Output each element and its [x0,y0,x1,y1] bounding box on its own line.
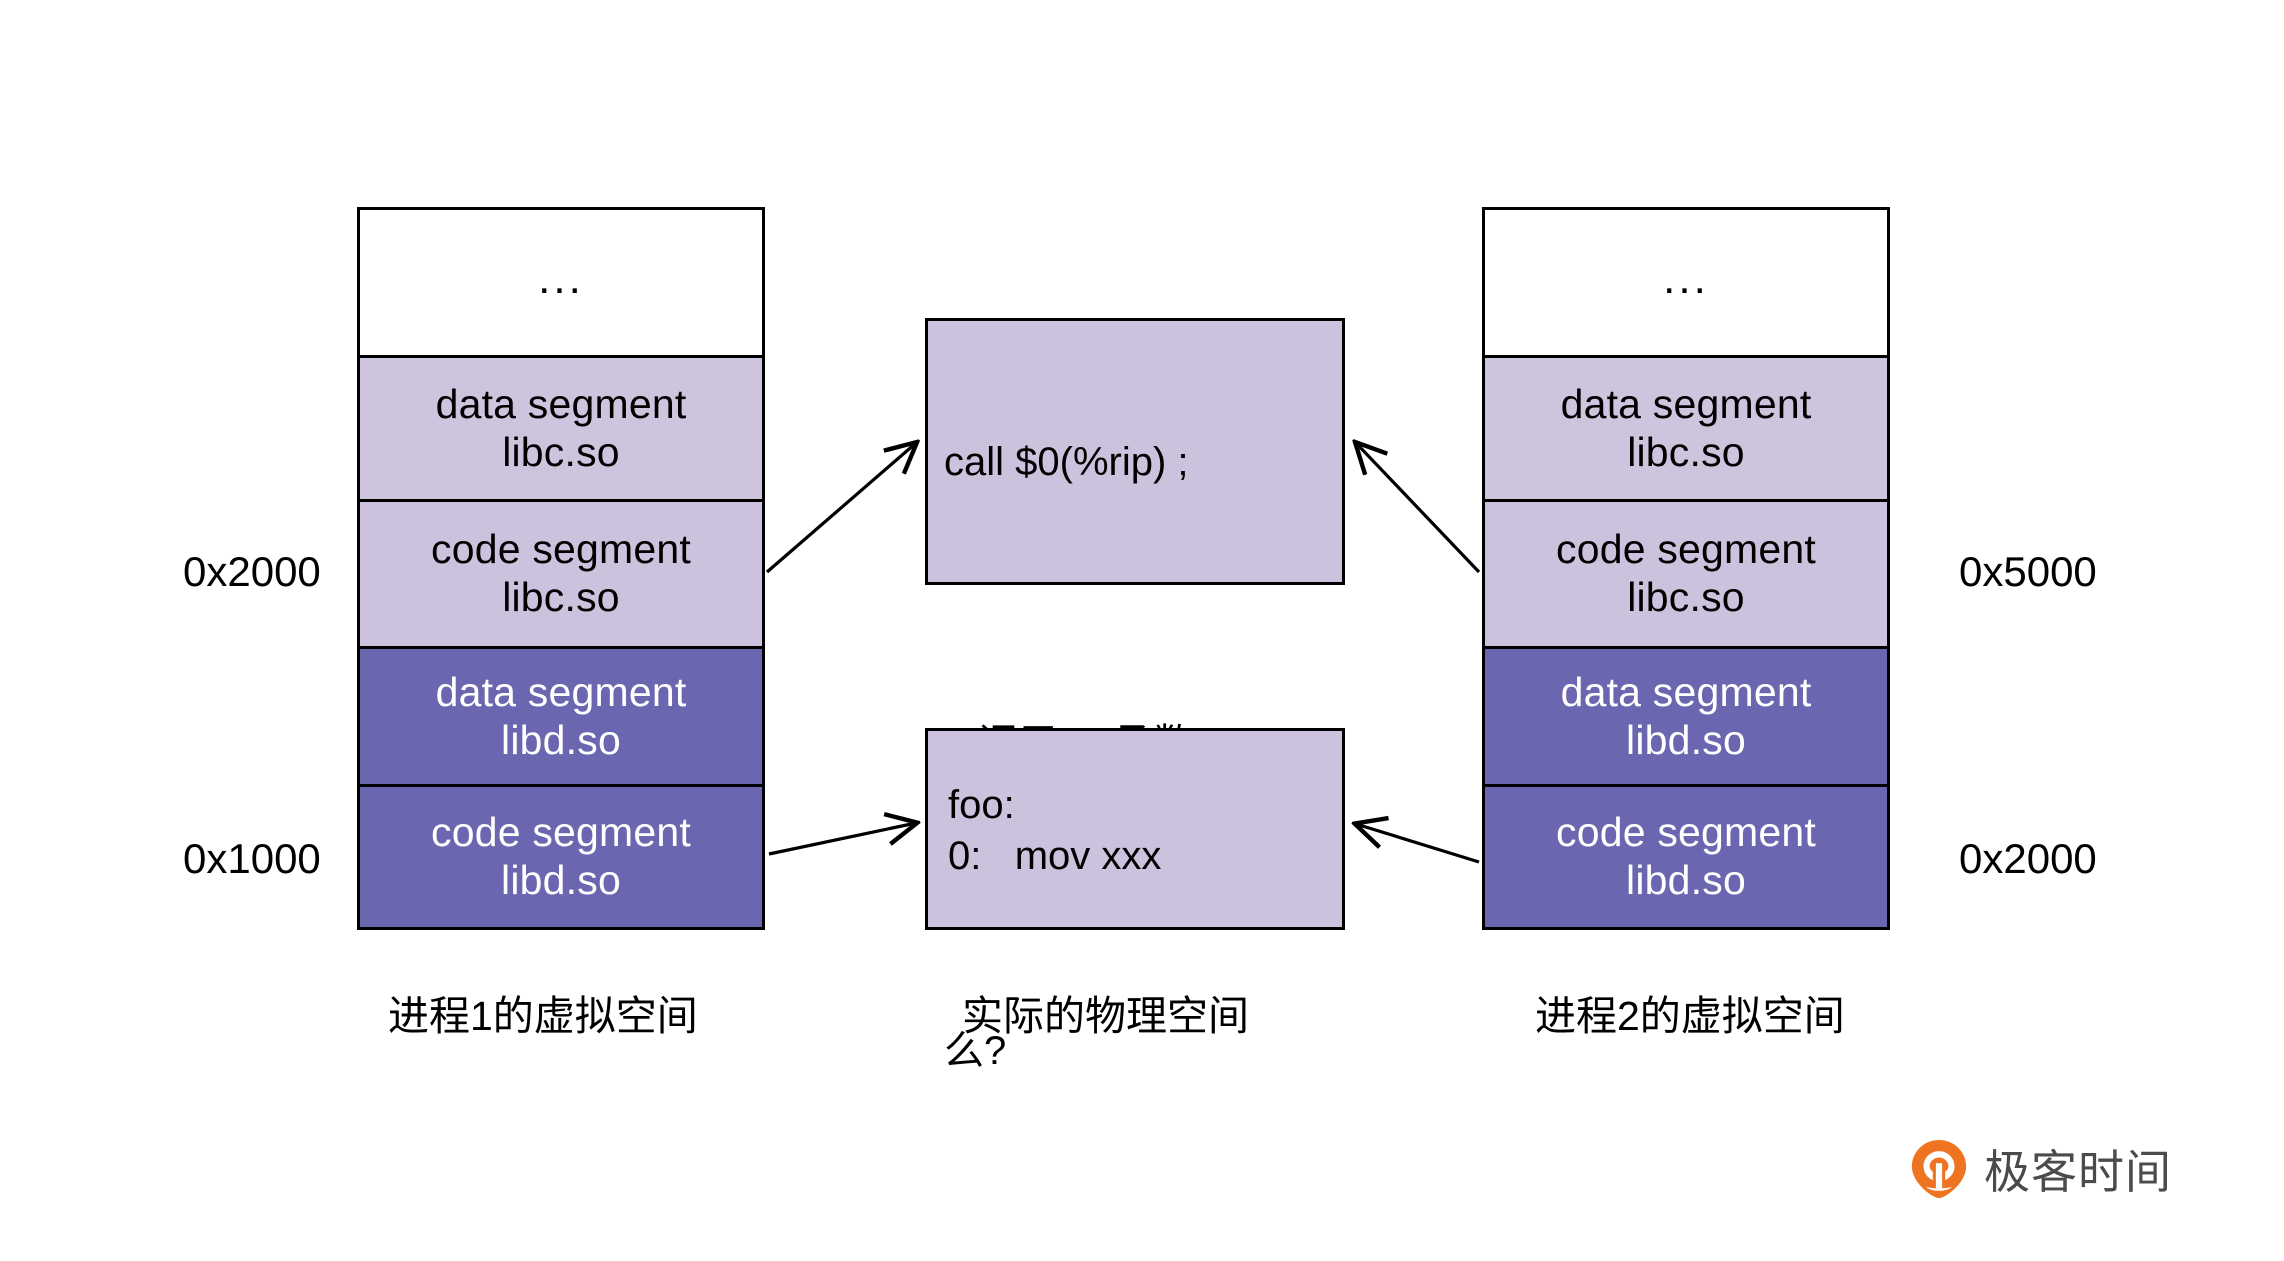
segment-kind-label: code segment [1556,526,1816,574]
segment-kind-label: data segment [436,669,687,717]
segment-kind-label: data segment [436,381,687,429]
caption-process2: 进程2的虚拟空间 [1535,982,1845,1042]
process2-memory-column: ... data segment libc.so code segment li… [1482,207,1890,930]
process2-row-code-segment-libc: code segment libc.so [1485,499,1887,646]
segment-library-label: libc.so [1627,574,1745,622]
foo-label-line: foo: [948,780,1326,831]
process2-address-libd-code: 0x2000 [1959,835,2097,883]
arrow-p1-code-to-physical-code [767,443,916,572]
code-blank-line [944,591,1326,617]
process1-row-ellipsis: ... [360,210,762,355]
process1-address-libd-code: 0x1000 [183,835,321,883]
process2-row-data-segment-libd: data segment libd.so [1485,646,1887,784]
arrow-p2-code-to-physical-code [1356,443,1479,572]
process1-row-data-segment-libc: data segment libc.so [360,355,762,499]
segment-library-label: libd.so [1626,717,1746,765]
physical-code-box: call $0(%rip) ; # 调用foo函数 # 这里的地址填什 么? [925,318,1345,585]
segment-kind-label: code segment [431,809,691,857]
segment-library-label: libd.so [1626,857,1746,905]
process1-row-data-segment-libd: data segment libd.so [360,646,762,784]
process1-row-code-segment-libc: code segment libc.so [360,499,762,646]
segment-kind-label: data segment [1561,381,1812,429]
segment-library-label: libc.so [1627,429,1745,477]
process1-address-libc-code: 0x2000 [183,548,321,596]
arrow-p2-libd-to-physical-foo [1356,824,1479,862]
physical-foo-box: foo: 0: mov xxx [925,728,1345,930]
diagram-canvas: ... data segment libc.so code segment li… [0,0,2284,1261]
process2-row-ellipsis: ... [1485,210,1887,355]
call-instruction-line: call $0(%rip) ; [944,437,1326,488]
segment-library-label: libd.so [501,717,621,765]
segment-library-label: libc.so [502,429,620,477]
caption-physical: 实际的物理空间 [962,982,1249,1042]
caption-process1: 进程1的虚拟空间 [388,982,698,1042]
segment-library-label: libc.so [502,574,620,622]
brand-logo: 极客时间 [1908,1136,2172,1202]
process2-row-code-segment-libd: code segment libd.so [1485,784,1887,927]
process1-row-code-segment-libd: code segment libd.so [360,784,762,927]
foo-mov-instruction-line: 0: mov xxx [948,831,1326,882]
brand-logo-text: 极客时间 [1984,1136,2172,1202]
ellipsis-label: ... [1663,257,1709,301]
pin-icon [1908,1138,1970,1200]
segment-kind-label: code segment [431,526,691,574]
segment-library-label: libd.so [501,857,621,905]
segment-kind-label: data segment [1561,669,1812,717]
process1-memory-column: ... data segment libc.so code segment li… [357,207,765,930]
arrow-p1-libd-to-physical-foo [769,823,916,854]
segment-kind-label: code segment [1556,809,1816,857]
process2-address-libc-code: 0x5000 [1959,548,2097,596]
process2-row-data-segment-libc: data segment libc.so [1485,355,1887,499]
ellipsis-label: ... [538,257,584,301]
